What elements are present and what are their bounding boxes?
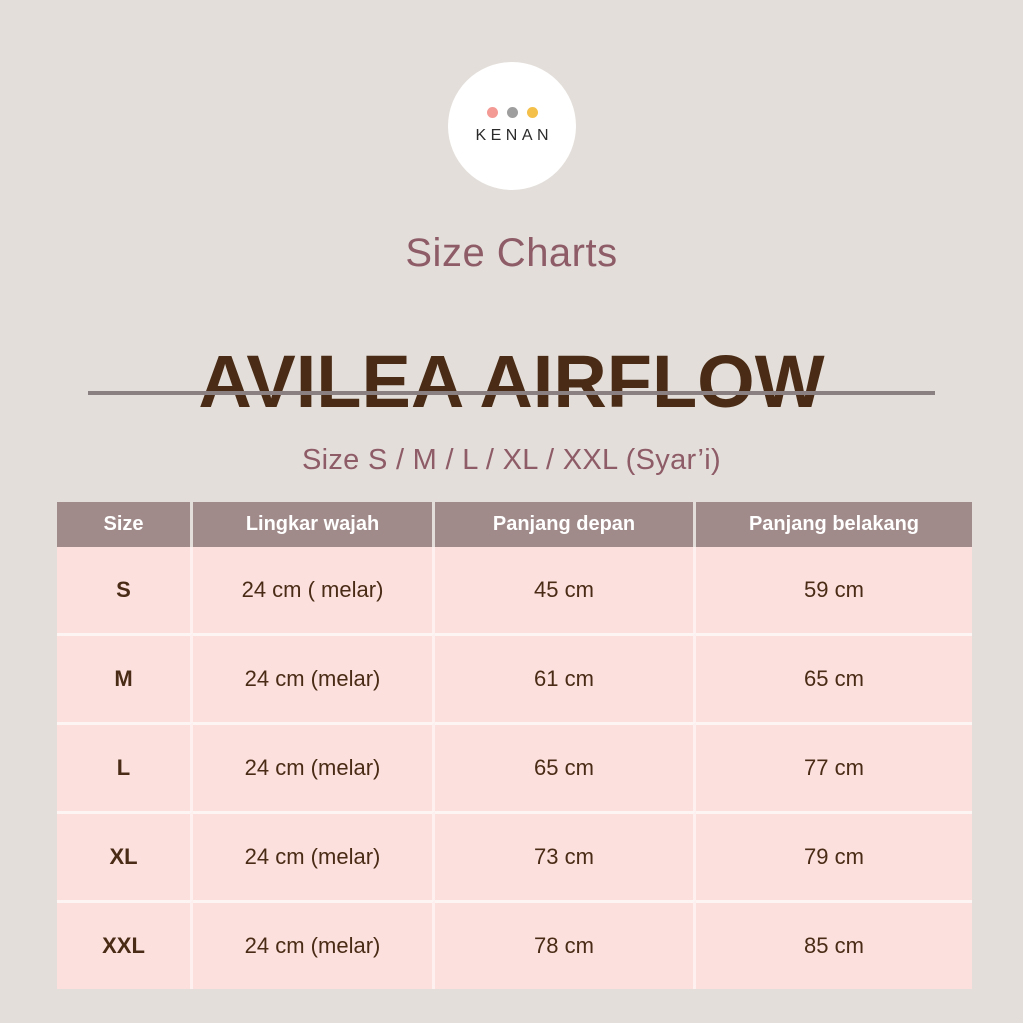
cell-panjang-depan: 78 cm: [435, 900, 696, 989]
size-chart-table: Size Lingkar wajah Panjang depan Panjang…: [57, 502, 972, 989]
column-header-lingkar-wajah: Lingkar wajah: [193, 502, 435, 547]
brand-wordmark: KENAN: [471, 127, 553, 145]
logo-dot-pink-icon: [487, 107, 498, 118]
logo-dots: [487, 107, 538, 118]
cell-size: XL: [57, 811, 193, 900]
table-header: Size Lingkar wajah Panjang depan Panjang…: [57, 502, 972, 547]
logo-dot-yellow-icon: [527, 107, 538, 118]
cell-panjang-depan: 73 cm: [435, 811, 696, 900]
cell-size: L: [57, 722, 193, 811]
table-body: S 24 cm ( melar) 45 cm 59 cm M 24 cm (me…: [57, 547, 972, 989]
cell-lingkar-wajah: 24 cm (melar): [193, 633, 435, 722]
cell-panjang-belakang: 59 cm: [696, 547, 972, 633]
brand-logo-badge: KENAN: [448, 62, 576, 190]
table-row: XXL 24 cm (melar) 78 cm 85 cm: [57, 900, 972, 989]
cell-panjang-belakang: 85 cm: [696, 900, 972, 989]
cell-size: XXL: [57, 900, 193, 989]
page-title: AVILEA AIRFLOW: [0, 341, 1023, 423]
cell-lingkar-wajah: 24 cm ( melar): [193, 547, 435, 633]
table-header-row: Size Lingkar wajah Panjang depan Panjang…: [57, 502, 972, 547]
size-chart-page: { "brand": { "wordmark": "KENAN", "dot_c…: [0, 0, 1023, 1023]
eyebrow-title: Size Charts: [0, 231, 1023, 276]
cell-panjang-belakang: 65 cm: [696, 633, 972, 722]
column-header-size: Size: [57, 502, 193, 547]
cell-lingkar-wajah: 24 cm (melar): [193, 811, 435, 900]
cell-panjang-depan: 45 cm: [435, 547, 696, 633]
logo-dot-gray-icon: [507, 107, 518, 118]
title-divider: [88, 391, 935, 395]
table-row: M 24 cm (melar) 61 cm 65 cm: [57, 633, 972, 722]
cell-size: S: [57, 547, 193, 633]
cell-panjang-depan: 65 cm: [435, 722, 696, 811]
column-header-panjang-depan: Panjang depan: [435, 502, 696, 547]
table-row: L 24 cm (melar) 65 cm 77 cm: [57, 722, 972, 811]
column-header-panjang-belakang: Panjang belakang: [696, 502, 972, 547]
size-subtitle: Size S / M / L / XL / XXL (Syar’i): [0, 444, 1023, 477]
cell-panjang-belakang: 77 cm: [696, 722, 972, 811]
cell-panjang-belakang: 79 cm: [696, 811, 972, 900]
cell-panjang-depan: 61 cm: [435, 633, 696, 722]
cell-lingkar-wajah: 24 cm (melar): [193, 722, 435, 811]
table-row: S 24 cm ( melar) 45 cm 59 cm: [57, 547, 972, 633]
cell-size: M: [57, 633, 193, 722]
cell-lingkar-wajah: 24 cm (melar): [193, 900, 435, 989]
table-row: XL 24 cm (melar) 73 cm 79 cm: [57, 811, 972, 900]
